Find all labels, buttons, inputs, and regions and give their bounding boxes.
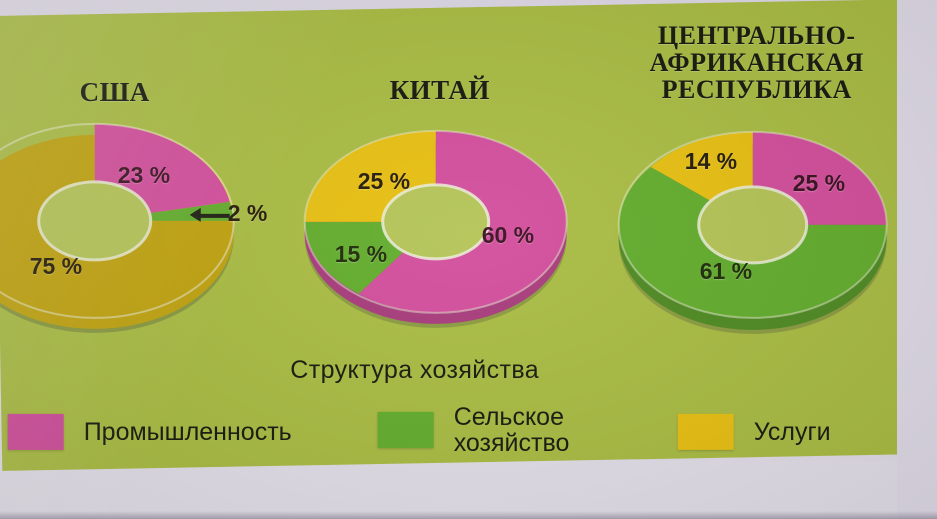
legend-label-agriculture: Сельское хозяйство xyxy=(454,404,570,457)
leader-arrow-usa-agriculture xyxy=(190,208,201,222)
slide-screenshot: США КИТАЙ ЦЕНТРАЛЬНО- АФРИКАНСКАЯ РЕСПУБ… xyxy=(0,0,937,519)
slice-label-usa-agriculture: 2 % xyxy=(228,200,268,227)
chart-caption: Структура хозяйства xyxy=(0,356,830,385)
legend-label-services: Услуги xyxy=(754,419,831,445)
chart-title-china: КИТАЙ xyxy=(345,76,535,104)
legend: Промышленность Сельское хозяйство Услуги xyxy=(0,404,900,474)
legend-item-industry: Промышленность xyxy=(8,414,292,450)
donut-usa-svg xyxy=(0,108,254,338)
slice-label-usa-services: 75 % xyxy=(30,253,82,280)
legend-item-services: Услуги xyxy=(678,414,831,450)
leader-line-usa-agriculture xyxy=(196,214,230,218)
chart-title-usa: США xyxy=(20,78,210,106)
legend-swatch-industry xyxy=(8,414,64,450)
donut-chart-china xyxy=(300,120,590,340)
slice-label-usa-industry: 23 % xyxy=(118,162,170,189)
donut-car-svg xyxy=(616,122,916,347)
legend-swatch-services xyxy=(678,414,734,450)
slice-label-china-industry: 60 % xyxy=(482,222,534,249)
donut-chart-usa xyxy=(0,108,254,338)
slide-canvas: США КИТАЙ ЦЕНТРАЛЬНО- АФРИКАНСКАЯ РЕСПУБ… xyxy=(0,0,914,471)
donut-chart-car xyxy=(616,122,916,347)
slice-label-car-agriculture: 61 % xyxy=(700,258,752,285)
slice-label-china-agriculture: 15 % xyxy=(335,241,387,268)
monitor-bezel-right xyxy=(897,0,937,519)
legend-label-industry: Промышленность xyxy=(84,419,292,445)
legend-swatch-agriculture xyxy=(378,412,434,448)
slice-label-car-services: 14 % xyxy=(685,148,737,175)
donut-china-svg xyxy=(300,120,590,340)
slice-label-car-industry: 25 % xyxy=(793,170,845,197)
chart-title-car: ЦЕНТРАЛЬНО- АФРИКАНСКАЯ РЕСПУБЛИКА xyxy=(612,22,902,103)
slice-label-china-services: 25 % xyxy=(358,168,410,195)
legend-item-agriculture: Сельское хозяйство xyxy=(378,404,570,457)
monitor-bezel-shadow xyxy=(0,511,937,519)
